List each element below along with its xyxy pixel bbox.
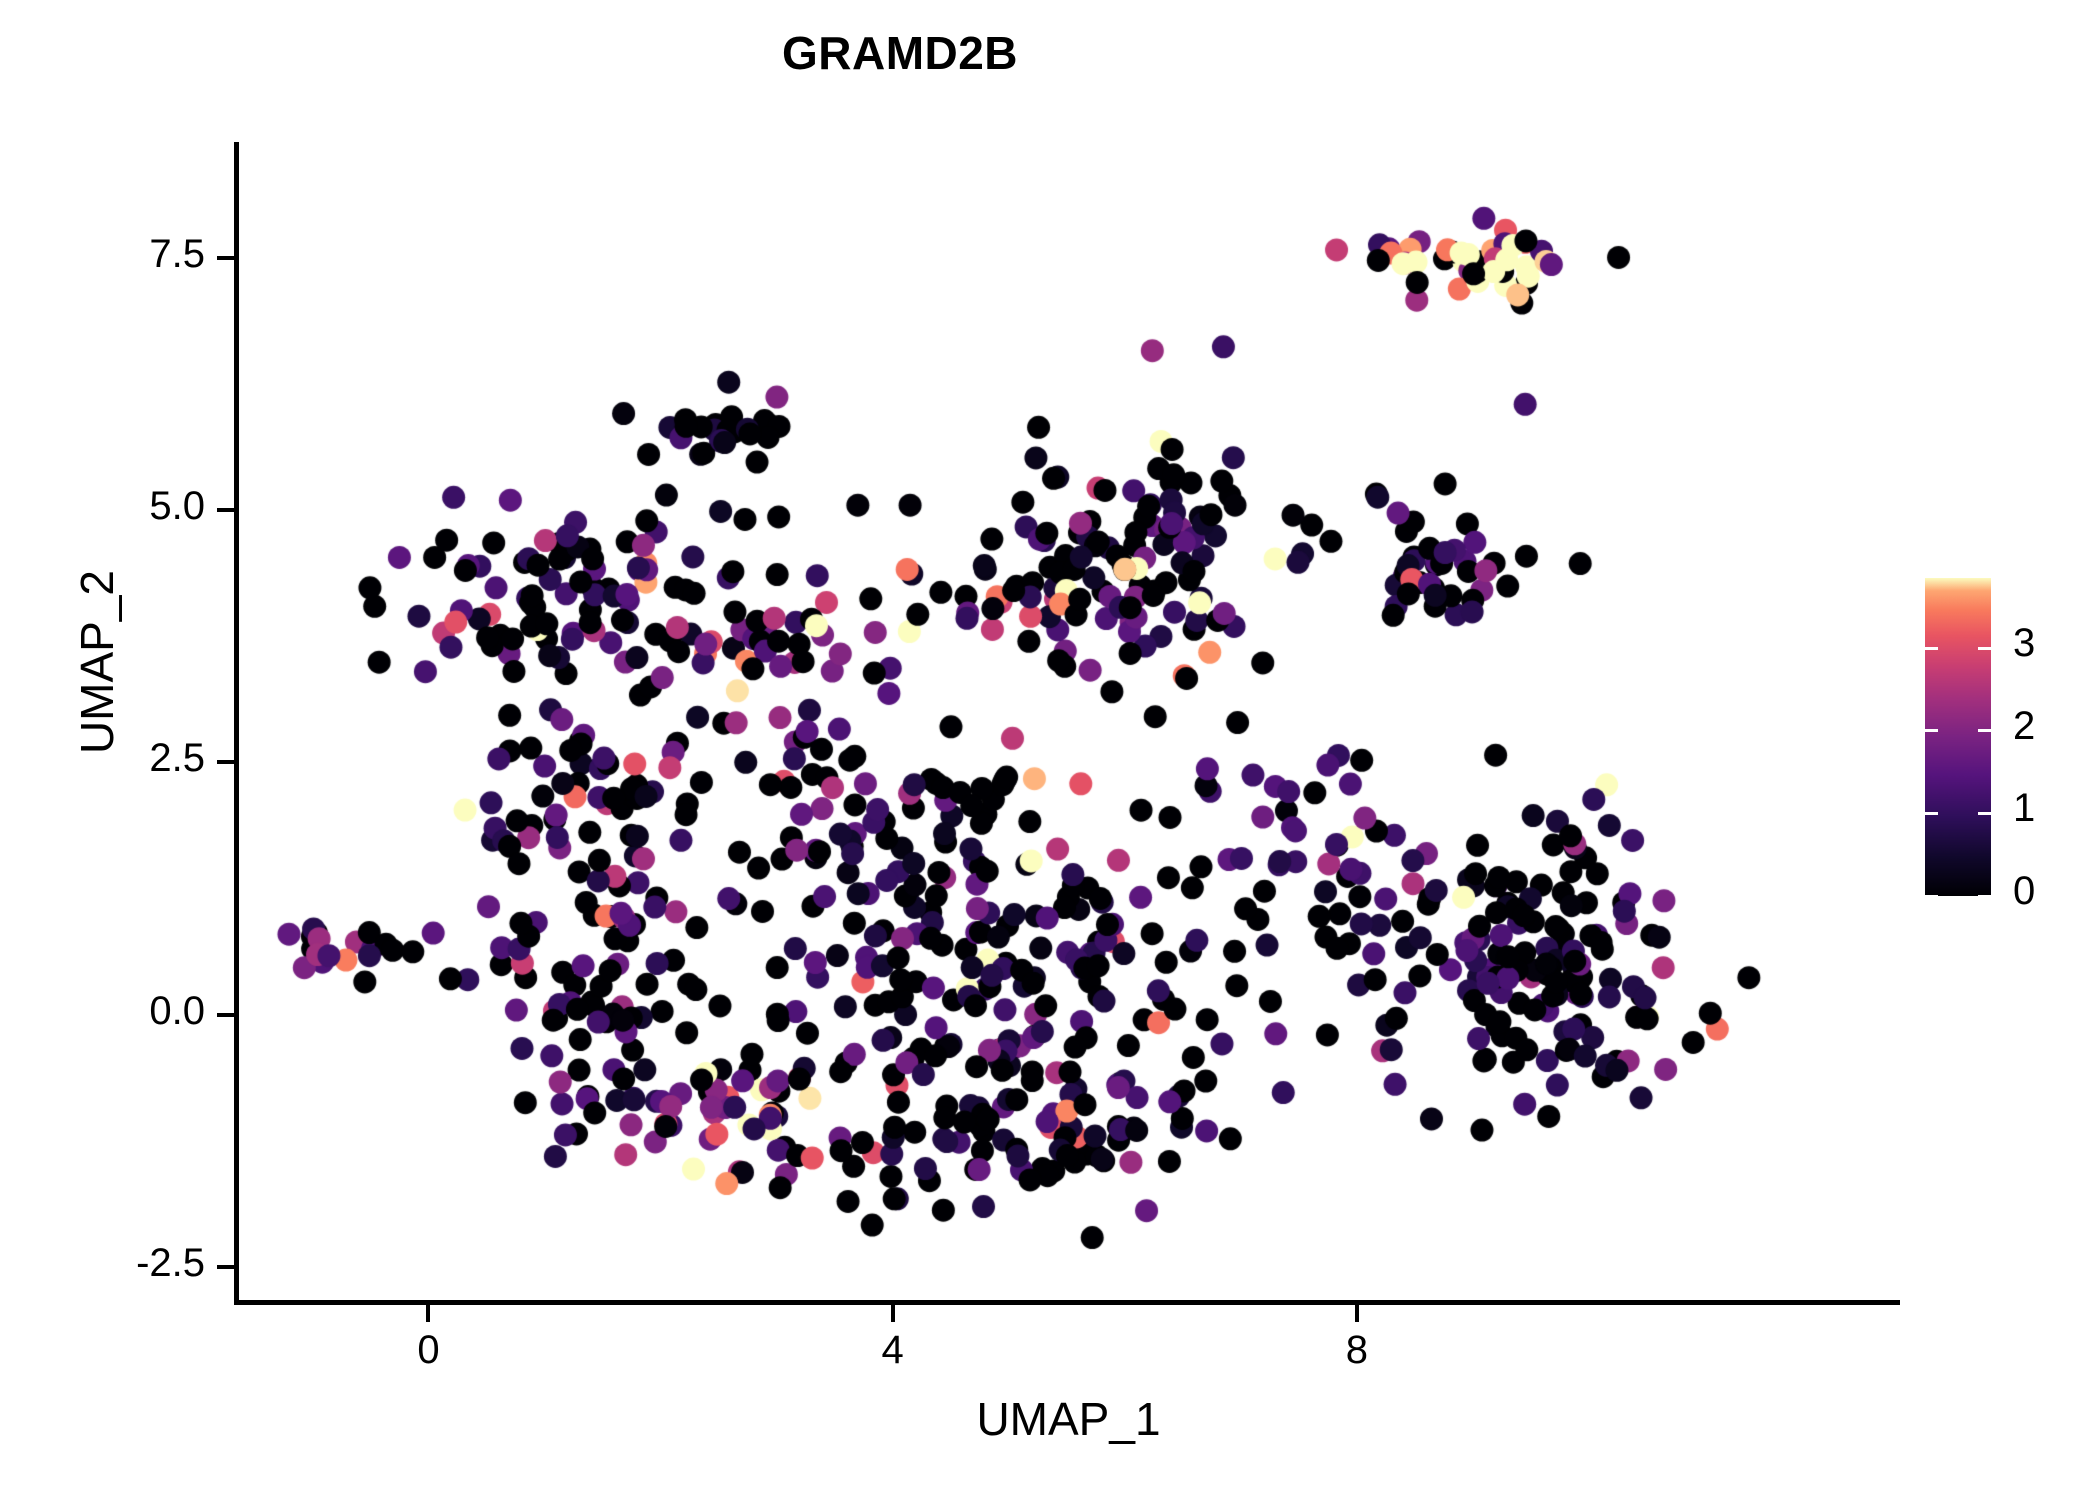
x-tick-mark: [891, 1305, 895, 1322]
colorbar-tick-label: 1: [2013, 786, 2035, 831]
colorbar-tick-mark: [1978, 647, 1991, 650]
y-tick-mark: [217, 1265, 234, 1269]
plot-panel: [237, 142, 1900, 1302]
x-tick-mark: [426, 1305, 430, 1322]
x-tick-mark: [1355, 1305, 1359, 1322]
colorbar-gradient: [1925, 578, 1991, 896]
y-tick-mark: [217, 760, 234, 764]
colorbar-tick-mark: [1925, 895, 1938, 898]
x-axis-line: [234, 1300, 1900, 1305]
umap-feature-plot: GRAMD2B 048 -2.50.02.55.07.5 UMAP_1 UMAP…: [0, 0, 2100, 1500]
y-tick-mark: [217, 256, 234, 260]
colorbar-tick-mark: [1978, 895, 1991, 898]
colorbar-legend: [1925, 578, 1991, 896]
colorbar-tick-label: 0: [2013, 869, 2035, 914]
colorbar-tick-mark: [1978, 812, 1991, 815]
x-tick-label: 8: [1297, 1328, 1417, 1373]
colorbar-tick-mark: [1925, 812, 1938, 815]
y-tick-mark: [217, 508, 234, 512]
y-tick-mark: [217, 1013, 234, 1017]
scatter-points-layer: [237, 142, 1900, 1302]
y-axis-label: UMAP_2: [70, 262, 124, 1062]
page-title: GRAMD2B: [0, 26, 1800, 80]
x-tick-label: 4: [833, 1328, 953, 1373]
colorbar-tick-mark: [1925, 729, 1938, 732]
colorbar-tick-label: 3: [2013, 621, 2035, 666]
y-axis-line: [234, 142, 239, 1305]
x-axis-label: UMAP_1: [237, 1392, 1900, 1446]
colorbar-tick-mark: [1925, 647, 1938, 650]
y-tick-label: -2.5: [0, 1241, 205, 1286]
x-tick-label: 0: [368, 1328, 488, 1373]
colorbar-tick-mark: [1978, 729, 1991, 732]
colorbar-tick-label: 2: [2013, 704, 2035, 749]
